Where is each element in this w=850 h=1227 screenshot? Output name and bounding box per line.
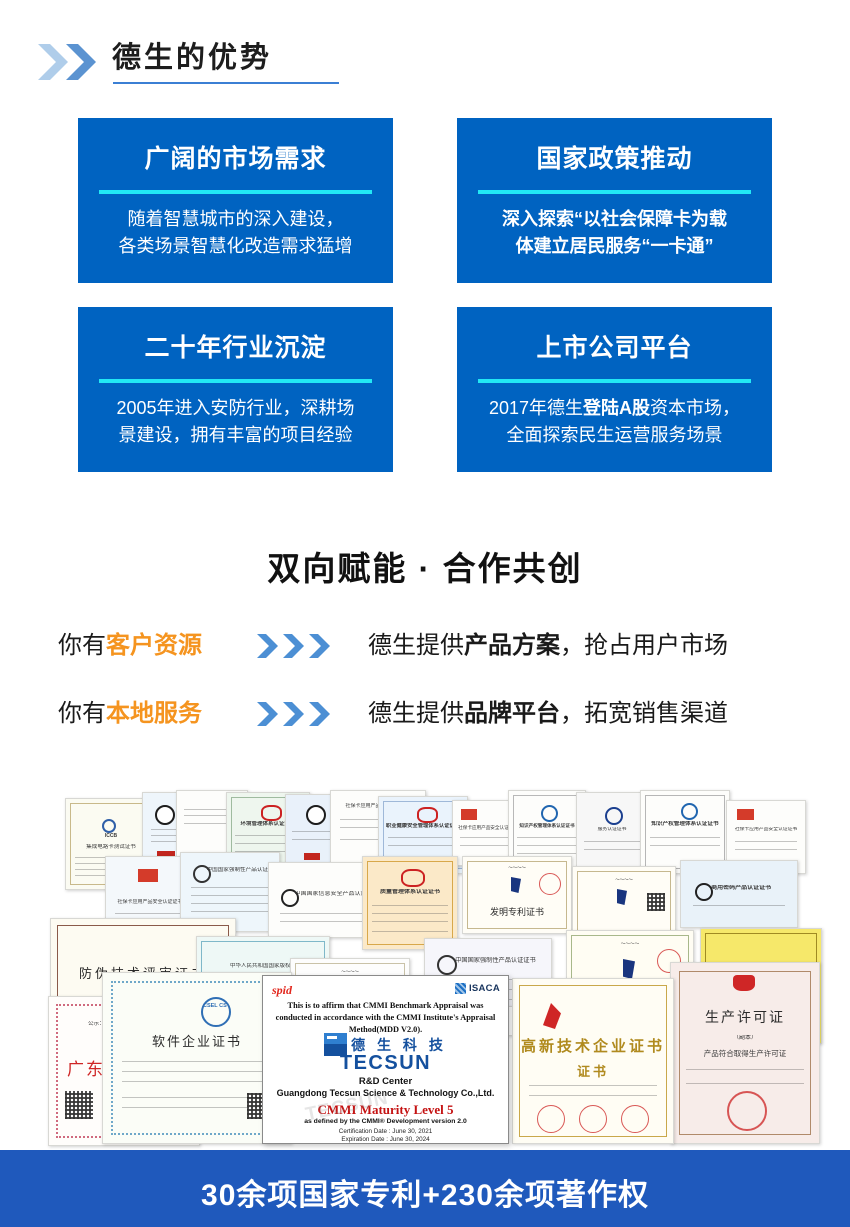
card-title: 国家政策推动 — [457, 144, 772, 174]
card-title: 二十年行业沉淀 — [78, 333, 393, 363]
synergy-row: 你有本地服务 德生提供品牌平台，拓宽销售渠道 — [0, 696, 850, 752]
footer-text: 30余项国家专利+230余项著作权 — [0, 1170, 850, 1214]
card-body-line: 全面探索民生运营服务场景 — [475, 422, 754, 449]
cmmi-expiration-date: Expiration Date : June 30, 2024 — [263, 1136, 508, 1143]
card-body-bold: 登陆A股 — [583, 398, 650, 418]
advantage-card-twenty-years: 二十年行业沉淀 2005年进入安防行业，深耕场 景建设，拥有丰富的项目经验 — [78, 307, 393, 472]
spid-logo: spid — [272, 983, 292, 998]
card-divider — [478, 190, 751, 194]
synergy-left-highlight: 客户资源 — [106, 632, 202, 659]
card-title: 上市公司平台 — [457, 333, 772, 363]
synergy-left-text: 你有本地服务 — [58, 696, 202, 732]
card-body-line: 深入探索“以社会保障卡为载 — [475, 206, 754, 233]
cert-title: 社保卡应用产品安全认证证书 — [111, 899, 188, 905]
cert-info-security-product: 中国国家信息安全产品认证证书 — [268, 862, 376, 938]
cert-ornament: 〜〜〜〜 — [579, 877, 669, 883]
synergy-left-prefix: 你有 — [58, 700, 106, 727]
cmmi-affirmation-text: This is to affirm that CMMI Benchmark Ap… — [270, 1000, 501, 1036]
card-body-line: 各类场景智慧化改造需求猛增 — [96, 233, 375, 260]
card-divider — [99, 379, 372, 383]
advantage-card-market-demand: 广阔的市场需求 随着智慧城市的深入建设， 各类场景智慧化改造需求猛增 — [78, 118, 393, 283]
cmmi-as-defined: as defined by the CMMI® Development vers… — [263, 1118, 508, 1125]
synergy-left-highlight: 本地服务 — [106, 700, 202, 727]
cert-commercial-crypto-product: 商用密码产品认证证书 — [680, 860, 798, 928]
card-title: 广阔的市场需求 — [78, 144, 393, 174]
cert-ornament: 〜〜〜〜 — [298, 969, 402, 975]
cmmi-certification-date: Certification Date : June 30, 2021 — [263, 1128, 508, 1135]
cert-high-tech-enterprise: 高新技术企业证书 证书 — [512, 978, 674, 1144]
title-underline — [113, 82, 339, 84]
cert-title: 中国国家强制性产品认证证书 — [206, 867, 273, 874]
certificate-collage: ICCB 集成电路卡测试证书 环境管理体系认证证书 社保卡应用产品安全认证证书 — [0, 760, 850, 1150]
advantage-card-listed-company: 上市公司平台 2017年德生登陆A股资本市场， 全面探索民生运营服务场景 — [457, 307, 772, 472]
synergy-right-prefix: 德生提供 — [368, 700, 464, 727]
synergy-right-suffix: ，拓宽销售渠道 — [560, 700, 728, 727]
card-divider — [478, 379, 751, 383]
cert-ornament: 〜〜〜〜 — [575, 941, 686, 947]
card-divider — [99, 190, 372, 194]
card-body-line: 随着智慧城市的深入建设， — [96, 206, 375, 233]
advantage-card-national-policy: 国家政策推动 深入探索“以社会保障卡为载 体建立居民服务“一卡通” — [457, 118, 772, 283]
footer-banner: 30余项国家专利+230余项著作权 — [0, 1150, 850, 1227]
cert-ornament: 〜〜〜〜 — [469, 865, 564, 871]
isaca-label: ISACA — [469, 983, 500, 994]
isaca-mark-icon — [455, 983, 466, 994]
cert-title: ICCB — [71, 833, 150, 839]
cert-subtitle: 证书 — [513, 1061, 673, 1080]
cert-badge: CSEL CSIA — [203, 1003, 227, 1010]
synergy-right-text: 德生提供品牌平台，拓宽销售渠道 — [368, 696, 728, 732]
cert-title: 职业健康安全管理体系认证证书 — [384, 823, 461, 830]
cert-service-a: 服务认证证书 — [576, 792, 648, 872]
synergy-row: 你有客户资源 德生提供产品方案，抢占用户市场 — [0, 628, 850, 684]
cert-quality-system: 质量管理体系认证证书 — [362, 856, 458, 950]
synergy-title: 双向赋能 · 合作共创 — [0, 542, 850, 590]
card-body: 随着智慧城市的深入建设， 各类场景智慧化改造需求猛增 — [96, 206, 375, 260]
cert-title: 中国国家信息安全产品认证证书 — [294, 891, 368, 899]
card-body: 2005年进入安防行业，深耕场 景建设，拥有丰富的项目经验 — [96, 395, 375, 449]
triple-chevron-right-icon — [255, 632, 339, 660]
cert-title: 商用密码产品认证证书 — [711, 885, 790, 893]
cert-subtitle: 产品符合取得生产许可证 — [680, 1049, 810, 1058]
cert-title: 中国国家强制性产品认证证书 — [455, 957, 543, 965]
isaca-logo: ISACA — [455, 983, 500, 994]
synergy-right-suffix: ，抢占用户市场 — [560, 632, 728, 659]
cert-title: 社保卡应用产品安全认证证书 — [732, 827, 801, 833]
chevron-right-dark-icon — [64, 42, 98, 82]
cert-invention-patent-b: 〜〜〜〜 — [572, 866, 676, 938]
card-body-line: 景建设，拥有丰富的项目经验 — [96, 422, 375, 449]
synergy-left-text: 你有客户资源 — [58, 628, 202, 664]
cert-title: 生产许可证 — [671, 1007, 819, 1027]
card-body: 2017年德生登陆A股资本市场， 全面探索民生运营服务场景 — [475, 395, 754, 449]
cert-title: 服务认证证书 — [581, 827, 643, 833]
triple-chevron-right-icon — [255, 700, 339, 728]
cert-subtitle: 集成电路卡测试证书 — [71, 844, 150, 851]
cert-copy-label: （副本） — [680, 1035, 810, 1043]
cert-title: 质量管理体系认证证书 — [369, 889, 452, 897]
synergy-right-bold: 产品方案 — [464, 632, 560, 659]
synergy-right-bold: 品牌平台 — [464, 700, 560, 727]
section-header: 德生的优势 — [0, 0, 850, 110]
cmmi-department: R&D Center — [263, 1076, 508, 1087]
card-body-line: 2017年德生登陆A股资本市场， — [475, 395, 754, 422]
cert-title: 知识产权管理体系认证证书 — [514, 823, 581, 829]
card-body-line: 2005年进入安防行业，深耕场 — [96, 395, 375, 422]
cert-cmmi-maturity-level-5: spid ISACA This is to affirm that CMMI B… — [262, 975, 509, 1144]
synergy-right-prefix: 德生提供 — [368, 632, 464, 659]
page-title: 德生的优势 — [112, 38, 272, 78]
chevron-group-icon — [36, 42, 110, 82]
cert-title: 知识产权管理体系认证证书 — [646, 821, 723, 828]
cert-invention-patent: 〜〜〜〜 发明专利证书 — [462, 856, 572, 934]
card-body-line: 体建立居民服务“一卡通” — [475, 233, 754, 260]
cert-production-license: 生产许可证 （副本） 产品符合取得生产许可证 — [670, 962, 820, 1144]
cert-title: 高新技术企业证书 — [513, 1035, 673, 1056]
synergy-left-prefix: 你有 — [58, 632, 106, 659]
synergy-row-list: 你有客户资源 德生提供产品方案，抢占用户市场 你有本地服务 德生提供品牌平台，拓… — [0, 628, 850, 752]
synergy-right-text: 德生提供产品方案，抢占用户市场 — [368, 628, 728, 664]
cert-title: 发明专利证书 — [463, 905, 571, 918]
tecsun-brand-en: TECSUN — [263, 1052, 508, 1075]
card-body: 深入探索“以社会保障卡为载 体建立居民服务“一卡通” — [475, 206, 754, 260]
